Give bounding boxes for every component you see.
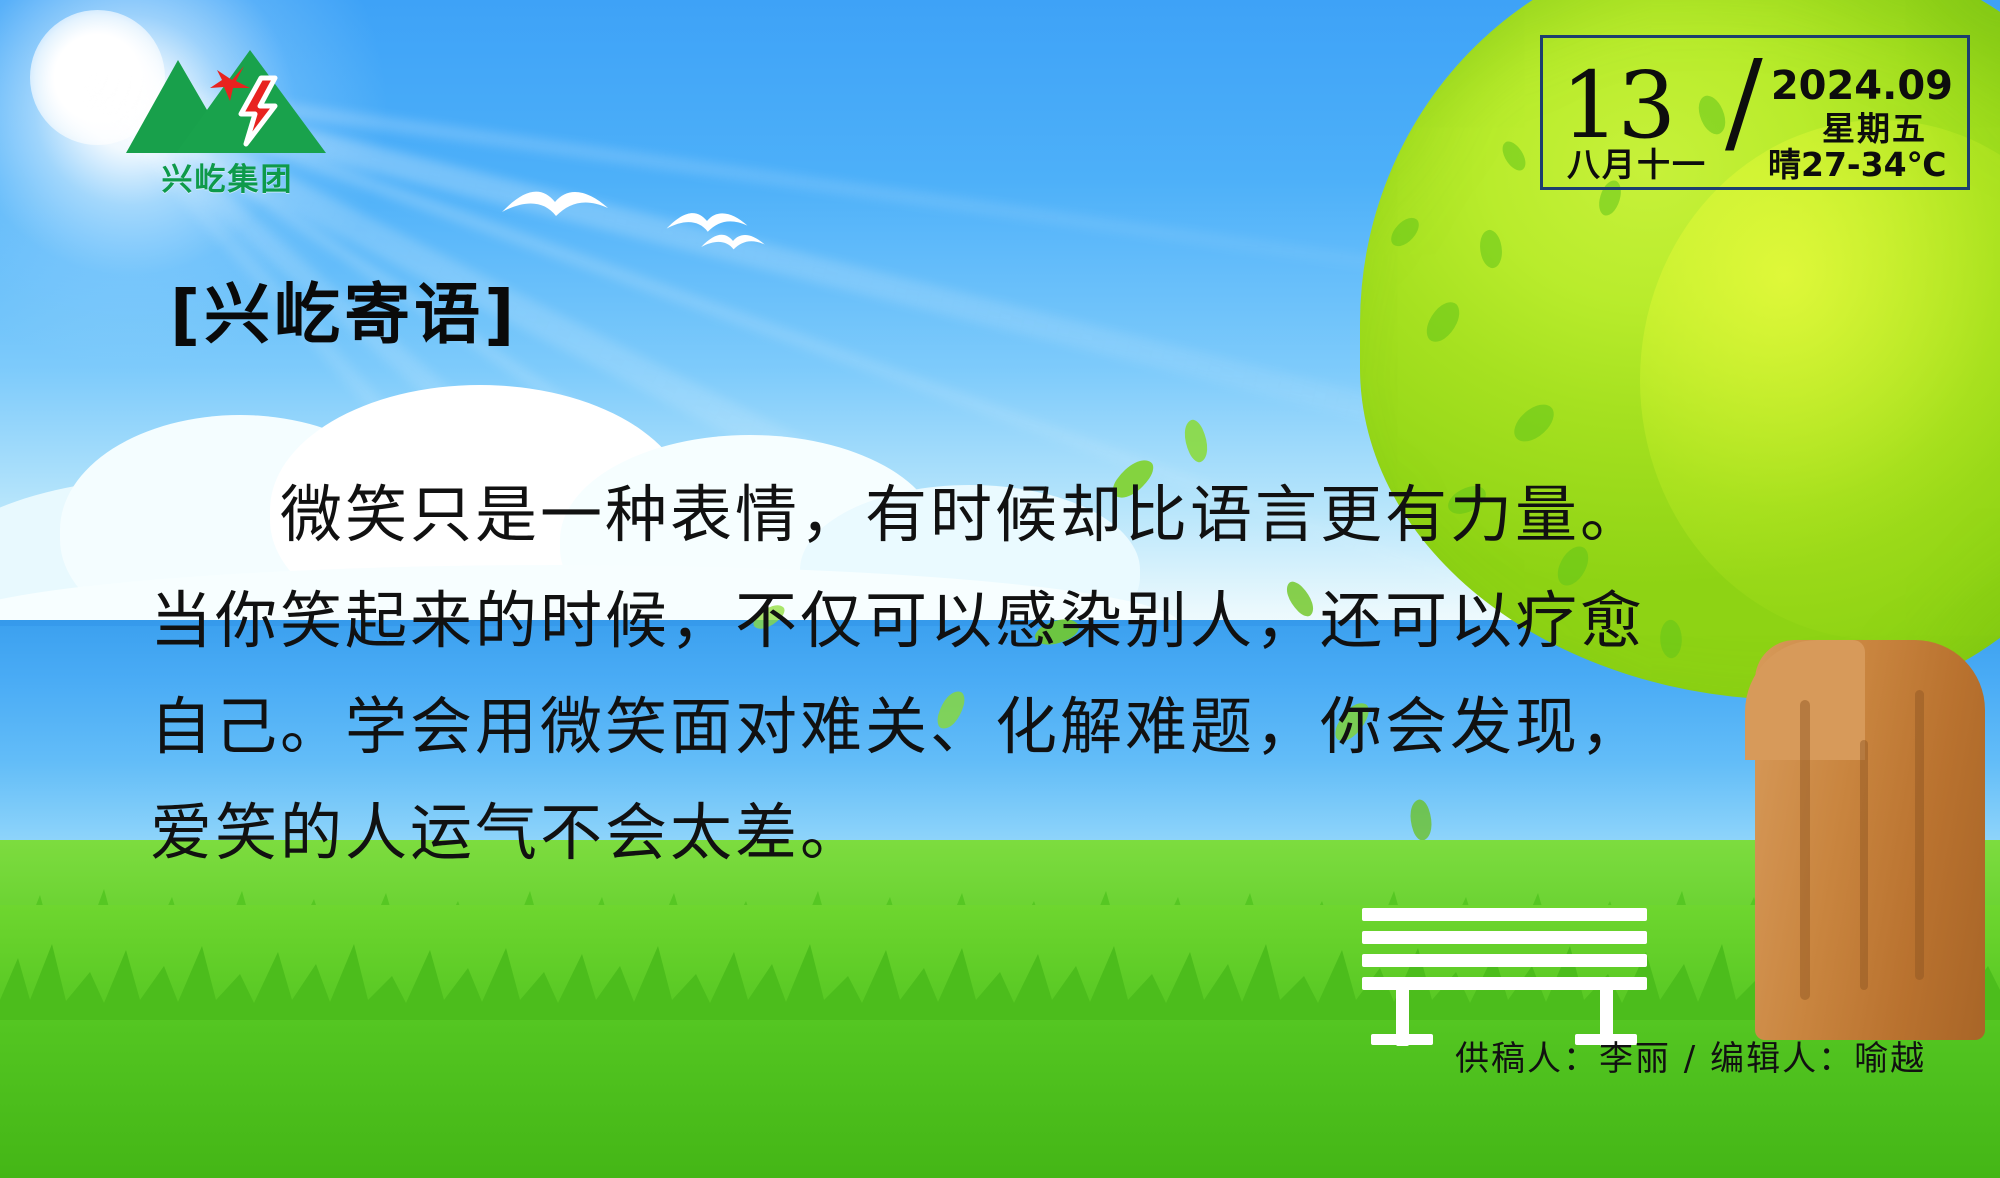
grass-blades-front bbox=[0, 900, 2000, 1020]
weather-info: 晴27-34℃ bbox=[1768, 148, 1947, 181]
logo-text: 兴屹集团 bbox=[120, 154, 335, 199]
date-day: 13 bbox=[1561, 60, 1674, 152]
poster-canvas: 兴屹集团 13 / 2024.09 星期五 八月十一 晴27-34℃ [兴屹寄语… bbox=[0, 0, 2000, 1178]
body-paragraph: 微笑只是一种表情，有时候却比语言更有力量。 当你笑起来的时候，不仅可以感染别人，… bbox=[150, 462, 1850, 886]
date-lunar: 八月十一 bbox=[1567, 148, 1707, 181]
body-line: 爱笑的人运气不会太差。 bbox=[150, 780, 1850, 886]
date-year-month: 2024.09 bbox=[1771, 66, 1953, 106]
date-separator: / bbox=[1725, 46, 1763, 158]
body-line: 微笑只是一种表情，有时候却比语言更有力量。 bbox=[150, 462, 1850, 568]
page-title: [兴屹寄语] bbox=[170, 282, 518, 348]
date-weekday: 星期五 bbox=[1822, 112, 1927, 145]
date-card: 13 / 2024.09 星期五 八月十一 晴27-34℃ bbox=[1540, 35, 1970, 190]
company-logo[interactable]: 兴屹集团 bbox=[120, 48, 335, 198]
body-line: 自己。学会用微笑面对难关、化解难题，你会发现， bbox=[150, 674, 1850, 780]
park-bench-icon bbox=[1362, 908, 1647, 1043]
twin-mountain-lightning-icon bbox=[120, 48, 335, 160]
bird-icon bbox=[500, 182, 610, 222]
credits-line: 供稿人：李丽 / 编辑人：喻越 bbox=[1455, 1042, 1926, 1076]
bird-icon bbox=[700, 228, 766, 254]
body-line: 当你笑起来的时候，不仅可以感染别人，还可以疗愈 bbox=[150, 568, 1850, 674]
